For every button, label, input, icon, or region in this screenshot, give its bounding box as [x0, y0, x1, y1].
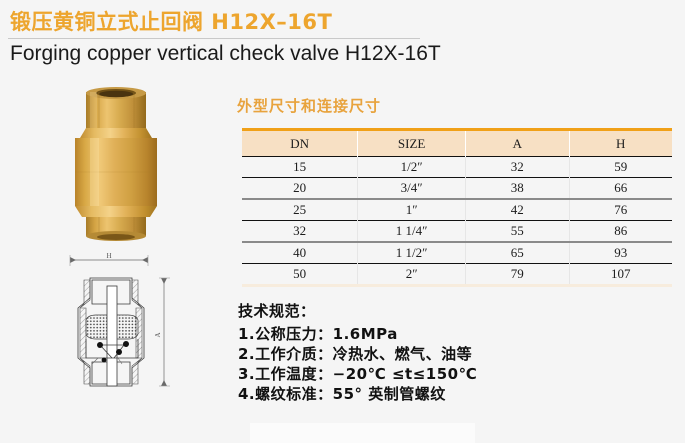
column-header-dn: DN	[242, 130, 358, 157]
svg-text:A: A	[154, 332, 162, 337]
page-title-english: Forging copper vertical check valve H12X…	[10, 42, 441, 66]
column-header-size: SIZE	[358, 130, 466, 157]
page-title-chinese: 锻压黄铜立式止回阀 H12X–16T	[10, 6, 332, 36]
technical-specifications: 技术规范： 1.公称压力：1.6MPa 2.工作介质：冷热水、燃气、油等 3.工…	[238, 300, 477, 404]
spec-nominal-pressure: 1.公称压力：1.6MPa	[238, 324, 477, 344]
dimension-table: DN SIZE A H 15 1/2″ 32 59 20 3/4″ 38 66 …	[242, 128, 672, 287]
cell-h: 86	[569, 221, 672, 243]
cell-dn: 25	[242, 199, 358, 221]
cell-h: 93	[569, 242, 672, 264]
cell-a: 55	[466, 221, 569, 243]
specs-title: 技术规范：	[238, 300, 477, 321]
cell-a: 32	[466, 157, 569, 178]
spec-thread-standard: 4.螺纹标准：55° 英制管螺纹	[238, 384, 477, 404]
bottom-blank-area	[250, 423, 475, 443]
cell-size: 1 1/4″	[358, 221, 466, 243]
cell-size: 3/4″	[358, 178, 466, 200]
table-row: 25 1″ 42 76	[242, 199, 672, 221]
cell-dn: 40	[242, 242, 358, 264]
table-row: 20 3/4″ 38 66	[242, 178, 672, 200]
table-row: 40 1 1/2″ 65 93	[242, 242, 672, 264]
brass-check-valve-photo	[42, 86, 218, 244]
title-divider	[8, 38, 420, 39]
cell-h: 107	[569, 264, 672, 286]
cell-a: 42	[466, 199, 569, 221]
column-header-h: H	[569, 130, 672, 157]
cell-h: 76	[569, 199, 672, 221]
spec-working-medium: 2.工作介质：冷热水、燃气、油等	[238, 344, 477, 364]
cell-a: 79	[466, 264, 569, 286]
table-heading: 外型尺寸和连接尺寸	[237, 95, 381, 116]
cell-size: 1″	[358, 199, 466, 221]
valve-cross-section-drawing: H A	[22, 246, 222, 406]
cell-a: 65	[466, 242, 569, 264]
cell-size: 1/2″	[358, 157, 466, 178]
table-row: 32 1 1/4″ 55 86	[242, 221, 672, 243]
cell-dn: 32	[242, 221, 358, 243]
cell-dn: 50	[242, 264, 358, 286]
table-row: 15 1/2″ 32 59	[242, 157, 672, 178]
cell-size: 2″	[358, 264, 466, 286]
cell-a: 38	[466, 178, 569, 200]
cell-size: 1 1/2″	[358, 242, 466, 264]
cell-h: 59	[569, 157, 672, 178]
cell-dn: 15	[242, 157, 358, 178]
column-header-a: A	[466, 130, 569, 157]
spec-working-temperature: 3.工作温度：−20℃ ≤t≤150℃	[238, 364, 477, 384]
table-header-row: DN SIZE A H	[242, 130, 672, 157]
table-row: 50 2″ 79 107	[242, 264, 672, 286]
cell-h: 66	[569, 178, 672, 200]
cell-dn: 20	[242, 178, 358, 200]
svg-text:H: H	[106, 252, 111, 260]
